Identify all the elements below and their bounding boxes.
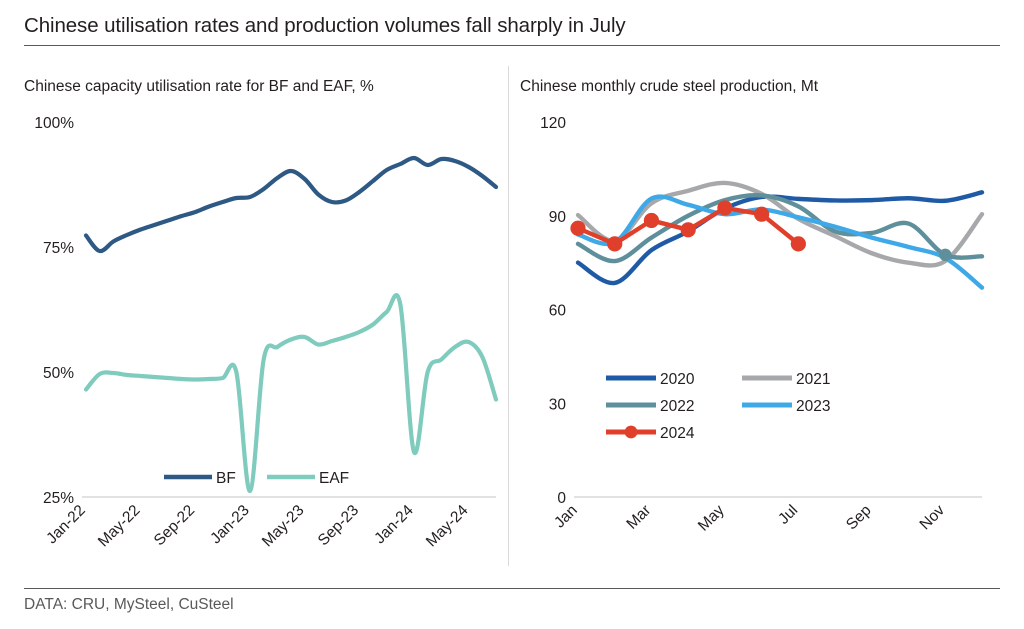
series-marker-2024 bbox=[791, 236, 806, 251]
x-axis-tick-label: Sep-23 bbox=[315, 502, 362, 549]
series-marker-2024 bbox=[570, 221, 585, 236]
chart-panel-utilisation: Chinese capacity utilisation rate for BF… bbox=[24, 60, 504, 570]
legend-label: 2024 bbox=[660, 425, 695, 442]
series-marker-2024 bbox=[754, 207, 769, 222]
chart-legend: 20202021202220232024 bbox=[606, 371, 830, 442]
y-axis-tick-label: 120 bbox=[540, 115, 566, 132]
x-axis-tick-label: May-24 bbox=[423, 502, 472, 551]
legend-item-bf[interactable]: BF bbox=[164, 470, 236, 487]
svg-text:Sep-22: Sep-22 bbox=[151, 502, 198, 549]
svg-text:Sep: Sep bbox=[843, 502, 875, 534]
y-axis-tick-label: 30 bbox=[549, 396, 567, 413]
x-axis-tick-label: Sep bbox=[843, 502, 875, 534]
x-axis-tick-label: May bbox=[695, 502, 728, 535]
legend-item-2020[interactable]: 2020 bbox=[606, 371, 695, 388]
x-axis-tick-label: Nov bbox=[917, 502, 949, 534]
legend-item-2024[interactable]: 2024 bbox=[606, 425, 695, 442]
svg-text:Jan: Jan bbox=[551, 502, 581, 532]
chart-legend: BFEAF bbox=[164, 470, 349, 487]
x-axis-tick-label: Jan bbox=[551, 502, 581, 532]
page-title: Chinese utilisation rates and production… bbox=[24, 14, 626, 38]
series-line-2023 bbox=[578, 197, 982, 288]
svg-text:Jul: Jul bbox=[775, 502, 801, 528]
data-source-note: DATA: CRU, MySteel, CuSteel bbox=[24, 596, 234, 614]
x-axis-tick-label: Sep-22 bbox=[151, 502, 198, 549]
legend-item-eaf[interactable]: EAF bbox=[267, 470, 349, 487]
svg-text:May-23: May-23 bbox=[259, 502, 308, 551]
series-marker-2024 bbox=[607, 236, 622, 251]
svg-text:Sep-23: Sep-23 bbox=[315, 502, 362, 549]
series-marker-2024 bbox=[644, 213, 659, 228]
svg-text:May: May bbox=[695, 502, 728, 535]
legend-label: EAF bbox=[319, 470, 349, 487]
svg-text:May-24: May-24 bbox=[423, 502, 472, 551]
x-axis-tick-label: May-23 bbox=[259, 502, 308, 551]
legend-item-2022[interactable]: 2022 bbox=[606, 398, 694, 415]
x-axis-tick-label: Jan-24 bbox=[371, 502, 417, 548]
title-divider bbox=[24, 45, 1000, 46]
svg-text:Jan-24: Jan-24 bbox=[371, 502, 417, 548]
panel-divider bbox=[508, 66, 509, 566]
x-axis-tick-label: Jan-23 bbox=[207, 502, 253, 548]
legend-label: 2023 bbox=[796, 398, 830, 415]
series-marker-2024 bbox=[681, 222, 696, 237]
svg-text:Jan-22: Jan-22 bbox=[43, 502, 89, 548]
y-axis-tick-label: 60 bbox=[549, 303, 567, 320]
legend-label: BF bbox=[216, 470, 236, 487]
legend-item-2021[interactable]: 2021 bbox=[742, 371, 830, 388]
slide-root: Chinese utilisation rates and production… bbox=[0, 0, 1024, 629]
series-marker-2022 bbox=[939, 249, 951, 261]
series-line-bf bbox=[86, 158, 496, 251]
production-svg: 1209060300JanMarMayJulSepNov202020212022… bbox=[520, 60, 1000, 570]
y-axis-tick-label: 100% bbox=[34, 115, 74, 132]
y-axis-tick-label: 50% bbox=[43, 365, 74, 382]
x-axis-tick-label: Jan-22 bbox=[43, 502, 89, 548]
chart-panel-production: Chinese monthly crude steel production, … bbox=[520, 60, 1000, 570]
legend-marker bbox=[625, 426, 638, 439]
y-axis-tick-label: 90 bbox=[549, 209, 567, 226]
legend-label: 2021 bbox=[796, 371, 830, 388]
x-axis-tick-label: May-22 bbox=[95, 502, 144, 551]
utilisation-svg: 100%75%50%25%Jan-22May-22Sep-22Jan-23May… bbox=[24, 60, 504, 570]
chart-plot-production: 1209060300JanMarMayJulSepNov202020212022… bbox=[520, 60, 1000, 570]
chart-plot-utilisation: 100%75%50%25%Jan-22May-22Sep-22Jan-23May… bbox=[24, 60, 504, 570]
svg-text:May-22: May-22 bbox=[95, 502, 144, 551]
legend-item-2023[interactable]: 2023 bbox=[742, 398, 830, 415]
svg-text:Mar: Mar bbox=[623, 502, 654, 533]
legend-label: 2022 bbox=[660, 398, 694, 415]
y-axis-tick-label: 75% bbox=[43, 240, 74, 257]
y-axis-tick-label: 25% bbox=[43, 490, 74, 507]
legend-label: 2020 bbox=[660, 371, 695, 388]
series-line-eaf bbox=[86, 295, 496, 491]
series-marker-2024 bbox=[717, 200, 732, 215]
x-axis-tick-label: Jul bbox=[775, 502, 801, 528]
x-axis-tick-label: Mar bbox=[623, 502, 654, 533]
svg-text:Jan-23: Jan-23 bbox=[207, 502, 253, 548]
footer-divider bbox=[24, 588, 1000, 589]
svg-text:Nov: Nov bbox=[917, 502, 949, 534]
